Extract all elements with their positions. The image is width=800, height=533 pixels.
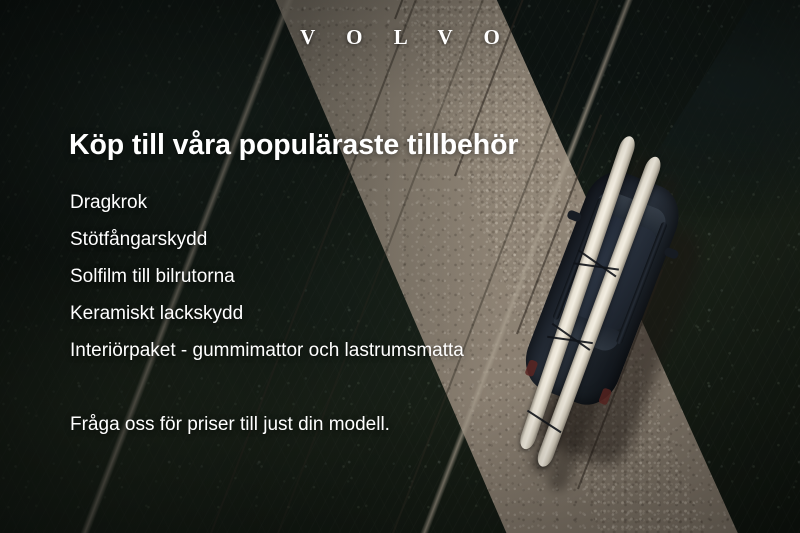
list-item: Solfilm till bilrutorna: [70, 267, 464, 304]
accessory-list: Dragkrok Stötfångarskydd Solfilm till bi…: [70, 193, 464, 378]
list-item: Interiörpaket - gummimattor och lastrums…: [70, 341, 464, 378]
closing-note: Fråga oss för priser till just din model…: [70, 415, 390, 434]
volvo-accessories-banner: V O L V O Köp till våra populäraste till…: [0, 0, 800, 533]
list-item: Dragkrok: [70, 193, 464, 230]
vehicle-with-kayaks: [520, 150, 730, 480]
page-title: Köp till våra populäraste tillbehör: [69, 130, 518, 161]
list-item: Keramiskt lackskydd: [70, 304, 464, 341]
volvo-wordmark: V O L V O: [0, 27, 800, 48]
list-item: Stötfångarskydd: [70, 230, 464, 267]
